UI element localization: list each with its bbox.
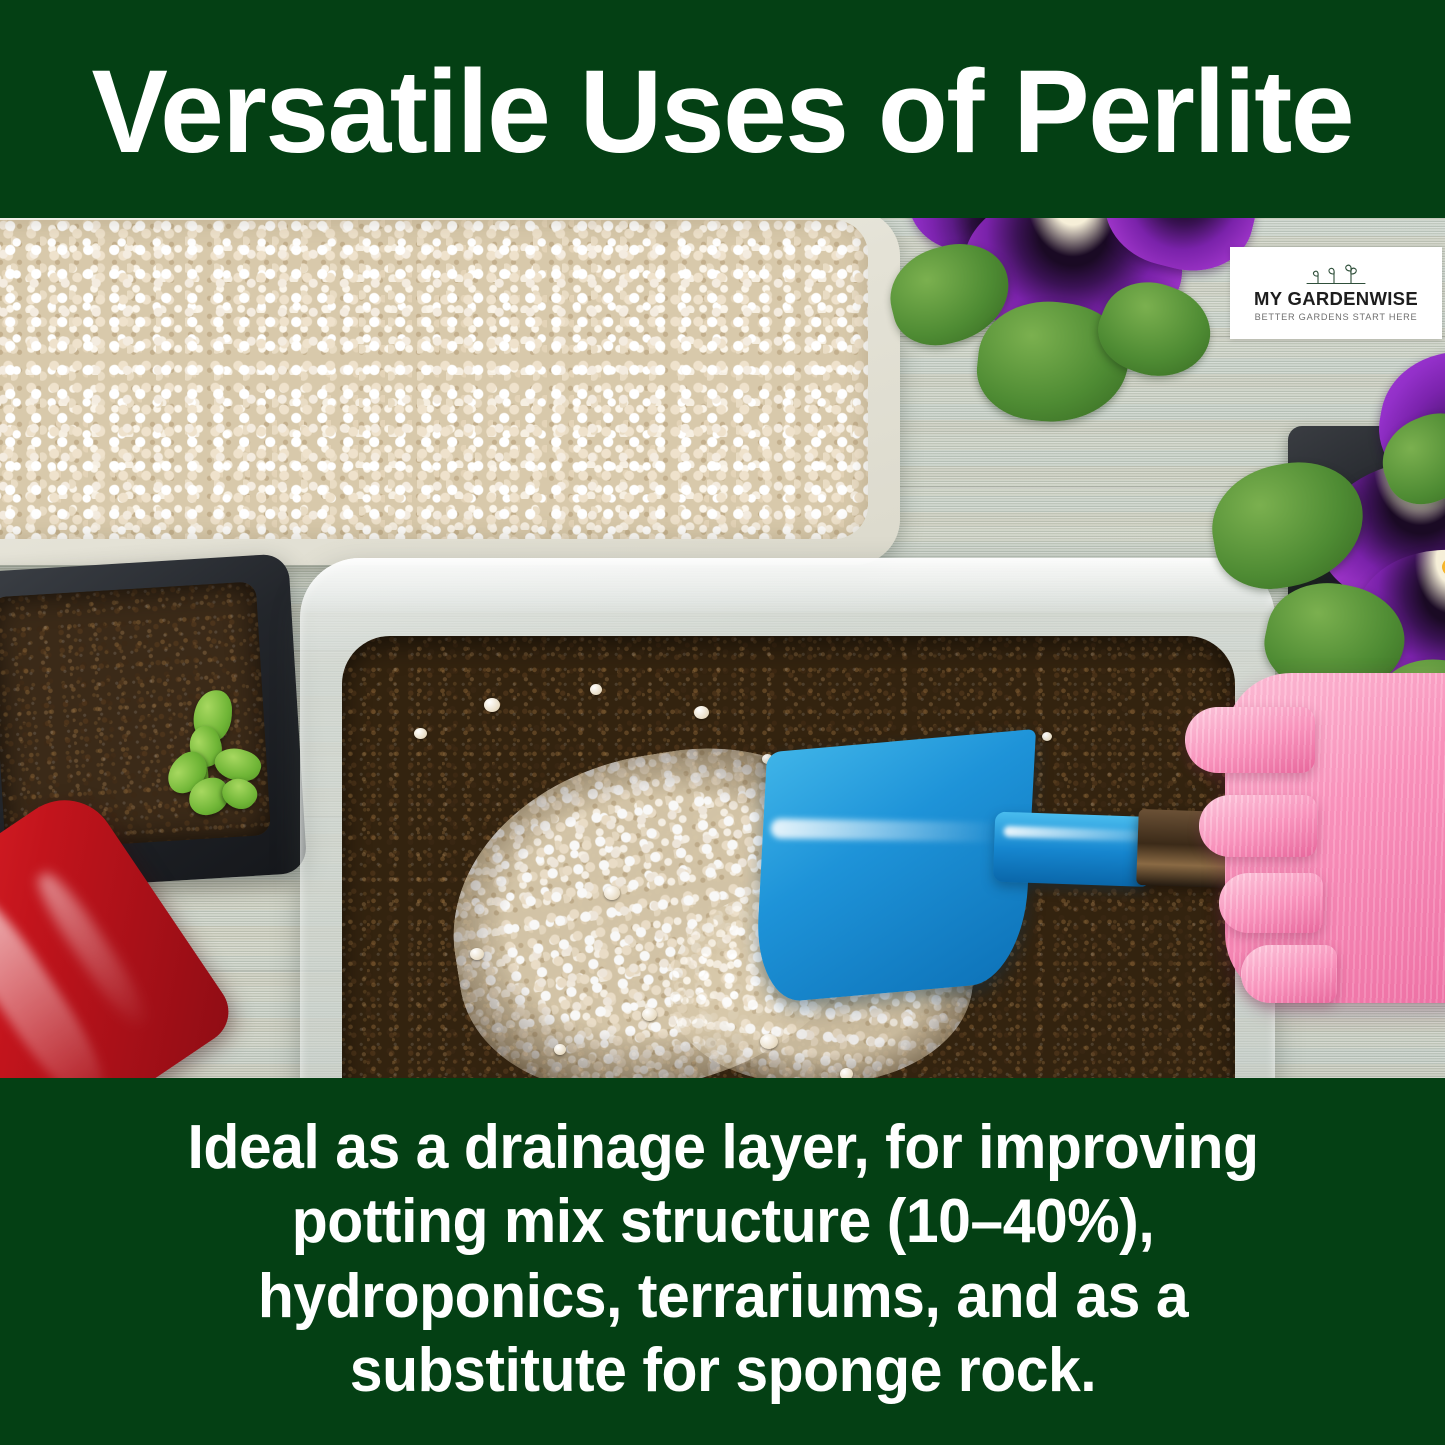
leaf-icon <box>217 771 262 815</box>
perlite-granule <box>470 948 484 960</box>
caption-band: Ideal as a drainage layer, for improving… <box>0 1078 1445 1445</box>
title-band: Versatile Uses of Perlite <box>0 0 1445 218</box>
caption-line: Ideal as a drainage layer, for improving <box>110 1111 1336 1185</box>
three-sprouts-icon <box>1301 262 1371 288</box>
caption-line: substitute for sponge rock. <box>110 1334 1336 1408</box>
caption-line: potting mix structure (10–40%), <box>110 1185 1336 1259</box>
caption-text: Ideal as a drainage layer, for improving… <box>110 1111 1336 1413</box>
perlite-granule <box>604 886 620 900</box>
blue-trowel <box>749 703 1242 1023</box>
knit-texture <box>1185 707 1315 773</box>
logo-tagline: BETTER GARDENS START HERE <box>1255 311 1418 324</box>
caption-line: hydroponics, terrariums, and as a <box>110 1260 1336 1334</box>
pink-glove <box>1185 673 1445 1073</box>
pansy-flower <box>930 218 1270 448</box>
container-rim <box>300 558 1275 612</box>
glove-finger <box>1219 873 1323 933</box>
trowel-neck <box>993 812 1150 887</box>
perlite-granule <box>642 1008 657 1021</box>
glove-finger <box>1241 945 1337 1003</box>
glove-finger <box>1185 707 1315 773</box>
brand-logo[interactable]: MY GARDENWISE BETTER GARDENS START HERE <box>1230 247 1442 339</box>
perlite-granule <box>694 706 709 719</box>
perlite-infographic: Versatile Uses of Perlite <box>0 0 1445 1445</box>
seedling-plant <box>148 688 286 826</box>
trowel-highlight <box>771 818 1001 842</box>
perlite-granule <box>760 1034 778 1049</box>
perlite-granules <box>0 220 868 539</box>
glove-finger <box>1199 795 1317 857</box>
knit-texture <box>1241 945 1337 1003</box>
photo-area: MY GARDENWISE BETTER GARDENS START HERE <box>0 218 1445 1078</box>
perlite-granule <box>554 1044 566 1055</box>
perlite-granule <box>414 728 427 739</box>
knit-texture <box>1199 795 1317 857</box>
knit-texture <box>1219 873 1323 933</box>
perlite-tray <box>0 218 900 565</box>
logo-name: MY GARDENWISE <box>1254 289 1418 308</box>
perlite-granule <box>590 684 602 695</box>
page-title: Versatile Uses of Perlite <box>92 47 1354 171</box>
perlite-granule <box>484 698 500 712</box>
perlite-granule <box>840 1068 853 1078</box>
